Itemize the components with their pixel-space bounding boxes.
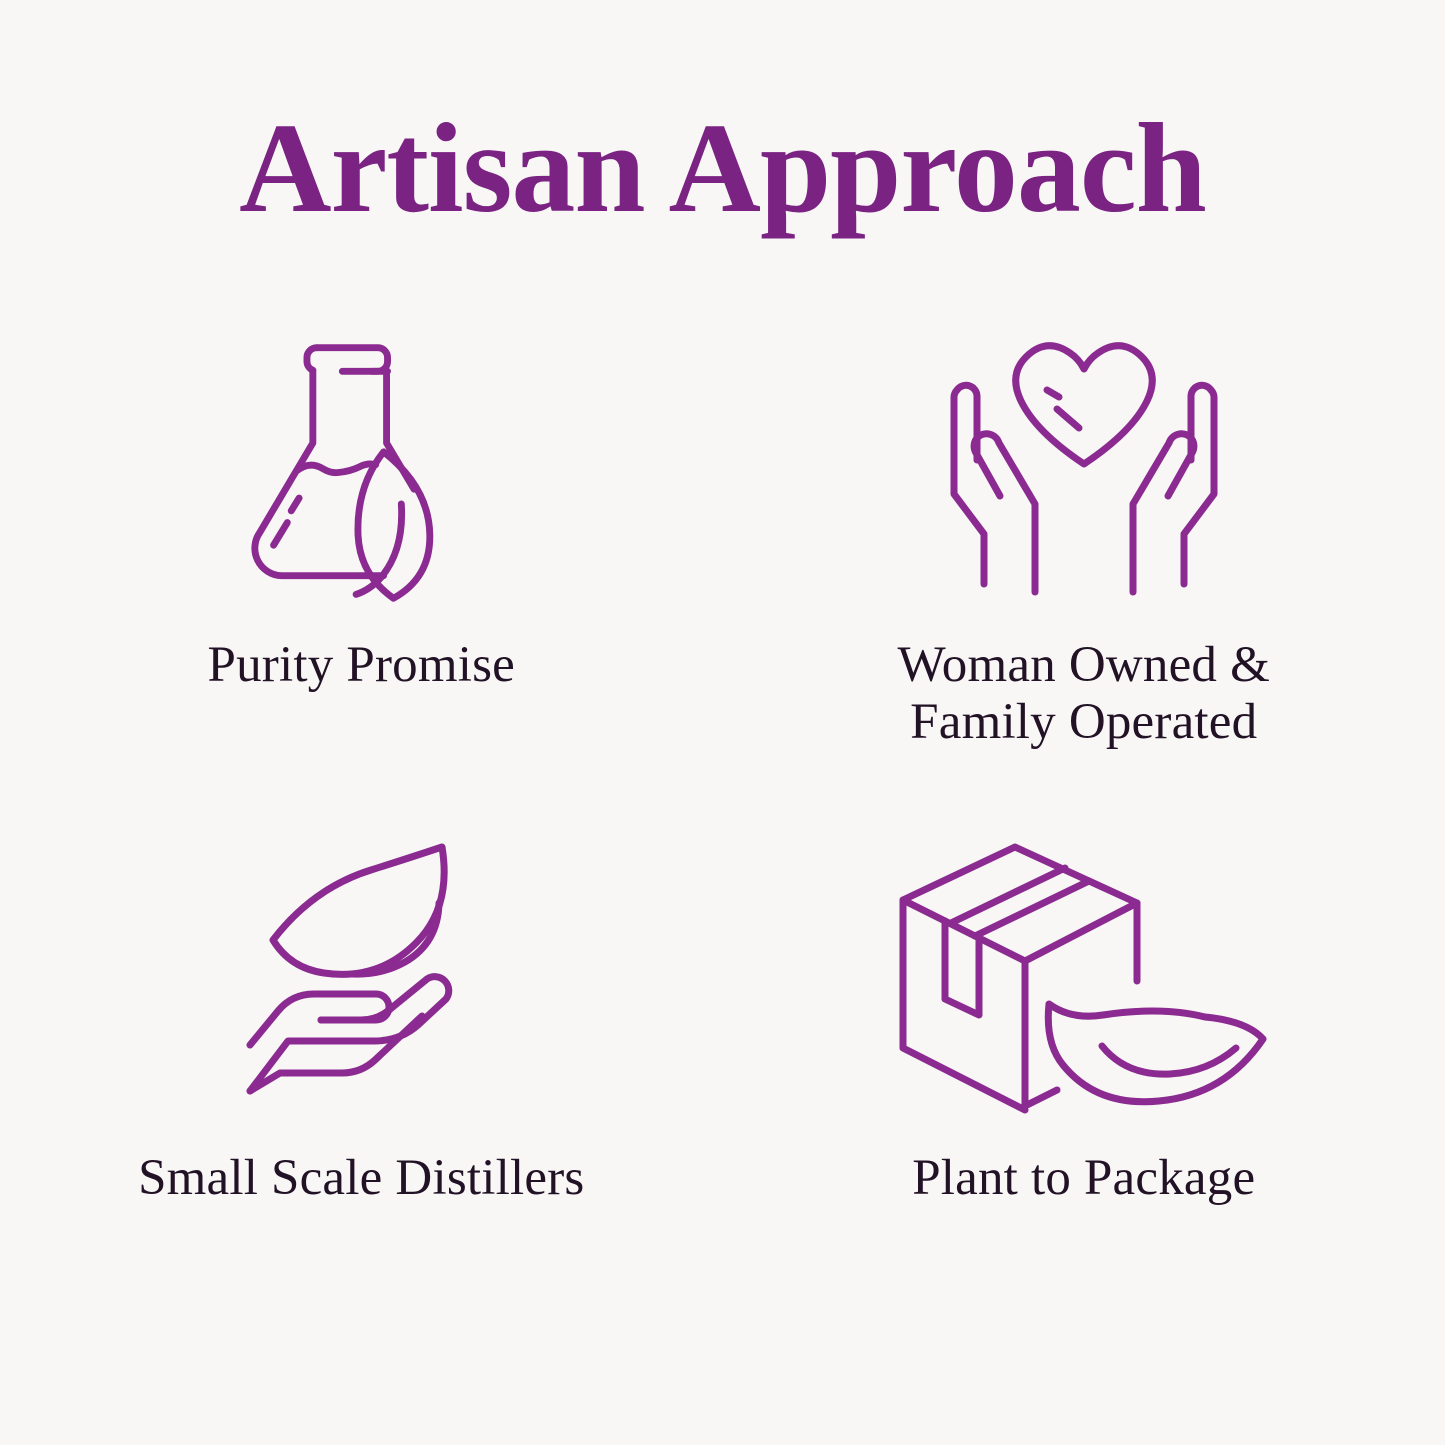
hands-holding-heart-icon [934,330,1234,615]
feature-label-line-1: Small Scale Distillers [138,1150,584,1206]
flask-leaf-icon [234,330,489,615]
feature-label: Purity Promise [208,637,515,694]
feature-label: Small Scale Distillers [138,1150,584,1207]
leaf-in-hand-icon [236,835,486,1110]
feature-label: Woman Owned & Family Operated [898,637,1270,751]
box-leaf-icon [889,835,1279,1110]
feature-label-line-1: Woman Owned & [898,637,1270,693]
feature-plant-to-package: Plant to Package [723,835,1445,1340]
feature-label: Plant to Package [912,1150,1255,1207]
feature-label-line-1: Purity Promise [208,637,515,693]
feature-label-line-2: Family Operated [910,694,1257,750]
feature-purity-promise: Purity Promise [0,330,723,835]
feature-woman-owned: Woman Owned & Family Operated [723,330,1445,835]
feature-small-scale-distillers: Small Scale Distillers [0,835,723,1340]
page-title: Artisan Approach [0,104,1445,232]
artisan-approach-graphic: Artisan Approach [0,0,1445,1445]
feature-grid: Purity Promise [0,330,1445,1340]
feature-label-line-1: Plant to Package [912,1150,1255,1206]
